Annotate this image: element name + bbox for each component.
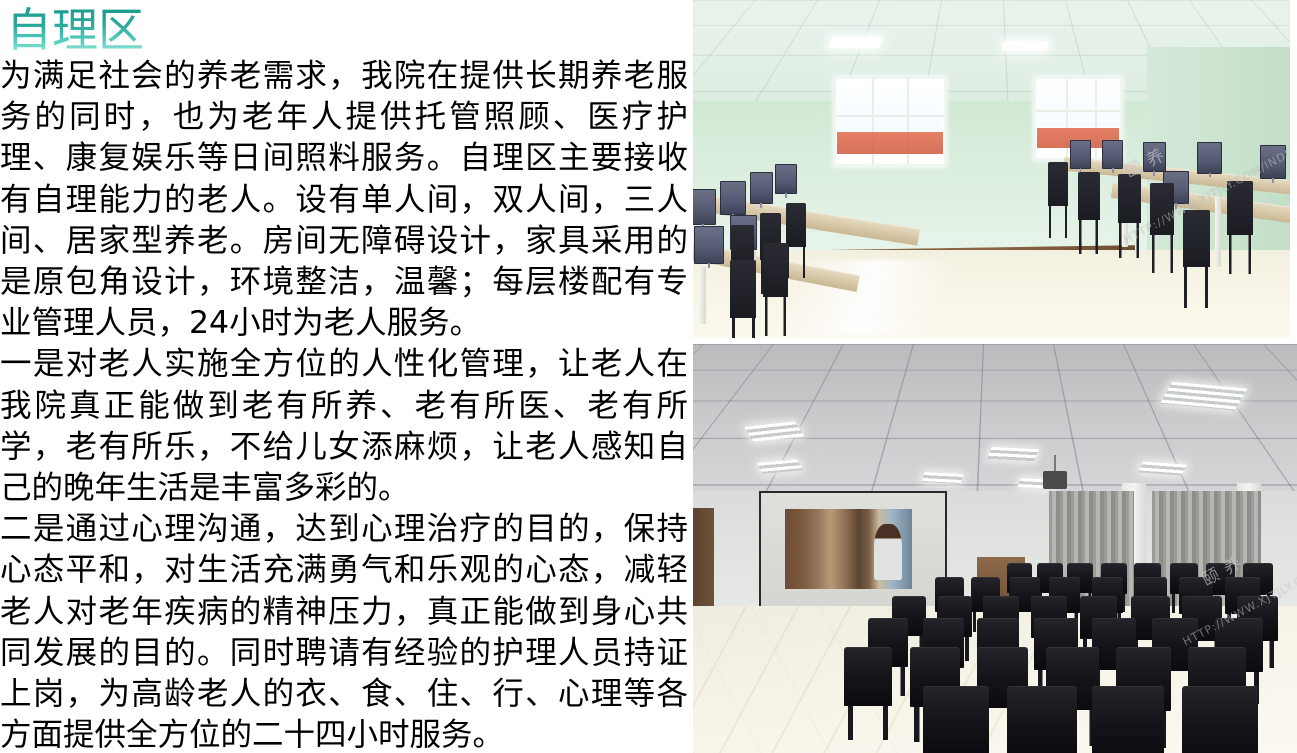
chair: [844, 647, 892, 706]
window-view-roof: [837, 132, 942, 154]
monitor: [1102, 140, 1123, 169]
monitor: [694, 226, 724, 263]
monitor: [1143, 142, 1166, 172]
window-sky: [1037, 80, 1119, 127]
monitor: [750, 172, 773, 204]
text-column: 自理区 为满足社会的养老需求，我院在提供长期养老服务的同时，也为老年人提供托管照…: [0, 0, 692, 753]
monitor: [775, 164, 796, 194]
chair: [1183, 210, 1210, 267]
chair: [730, 260, 756, 317]
page-title: 自理区: [6, 4, 144, 56]
paragraph-3: 二是通过心理沟通，达到心理治疗的目的，保持心态平和，对生活充满勇气和乐观的心态，…: [0, 509, 692, 753]
body-text-block: 为满足社会的养老需求，我院在提供长期养老服务的同时，也为老年人提供托管照顾、医疗…: [0, 56, 692, 753]
slide-root: 自理区 为满足社会的养老需求，我院在提供长期养老服务的同时，也为老年人提供托管照…: [0, 0, 1297, 753]
ceiling-projector: [1043, 471, 1067, 489]
ceiling-light: [1002, 41, 1049, 51]
chair: [1092, 686, 1164, 753]
chair: [1007, 686, 1076, 753]
chair: [786, 203, 806, 247]
monitor: [1260, 145, 1286, 179]
projection-screen: [759, 491, 946, 610]
desk-leg: [1215, 196, 1222, 267]
photo-lecture-hall: 颐 养 HTTP://WWW.XJTJLY.COM/INDEX.ASPX: [693, 344, 1297, 753]
chair: [1227, 181, 1253, 235]
window-mullion: [836, 115, 943, 117]
monitor: [720, 181, 745, 215]
monitor: [693, 189, 716, 224]
chair: [1118, 174, 1141, 223]
chair: [1078, 172, 1099, 219]
monitor: [1197, 142, 1221, 174]
window: [833, 76, 946, 167]
chair: [1182, 686, 1258, 753]
chair: [763, 243, 787, 297]
ceiling-light: [921, 472, 963, 484]
paragraph-2: 一是对老人实施全方位的人性化管理，让老人在我院真正能做到老有所养、老有所医、老有…: [0, 344, 692, 509]
chair: [1150, 183, 1174, 235]
chair: [923, 686, 989, 753]
window-sky: [837, 80, 942, 131]
monitor: [1070, 140, 1090, 168]
paragraph-1: 为满足社会的养老需求，我院在提供长期养老服务的同时，也为老年人提供托管照顾、医疗…: [0, 56, 692, 344]
window-mullion: [1036, 110, 1120, 112]
photo-computer-room: 颐 养 HTTP://WWW.XJTJLY.COM/INDEX.ASPX: [693, 0, 1290, 338]
projected-image: [785, 509, 911, 589]
desk-leg: [699, 267, 706, 324]
ceiling-light: [828, 37, 883, 48]
chair: [1048, 162, 1068, 206]
